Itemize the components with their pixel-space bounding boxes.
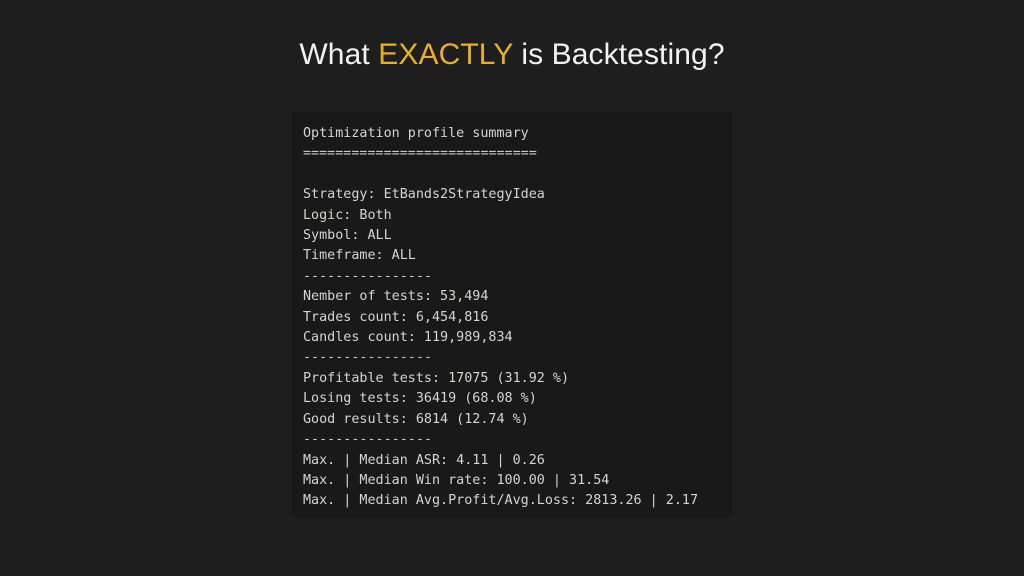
terminal-line: Timeframe: ALL <box>303 246 718 266</box>
terminal-line: Losing tests: 36419 (68.08 %) <box>303 389 718 409</box>
terminal-line: Max. | Median Avg.Profit/Avg.Loss: 2813.… <box>303 491 718 511</box>
page-title: What EXACTLY is Backtesting? <box>0 38 1024 72</box>
terminal-line: Good results: 6814 (12.74 %) <box>303 410 718 430</box>
terminal-line: Nember of tests: 53,494 <box>303 287 718 307</box>
terminal-line: Max. | Median ASR: 4.11 | 0.26 <box>303 451 718 471</box>
terminal-line: Optimization profile summary <box>303 124 718 144</box>
terminal-output-text: Optimization profile summary============… <box>303 124 718 512</box>
terminal-line: ---------------- <box>303 348 718 368</box>
terminal-line: Strategy: EtBands2StrategyIdea <box>303 185 718 205</box>
page-title-suffix: is Backtesting? <box>513 38 725 71</box>
terminal-line: Profitable tests: 17075 (31.92 %) <box>303 369 718 389</box>
page-title-accent: EXACTLY <box>378 38 513 71</box>
slide-root: What EXACTLY is Backtesting? Optimizatio… <box>0 0 1024 576</box>
terminal-output-panel: Optimization profile summary============… <box>292 112 732 518</box>
terminal-line: Max. | Median Win rate: 100.00 | 31.54 <box>303 471 718 491</box>
terminal-line: ---------------- <box>303 430 718 450</box>
page-title-prefix: What <box>299 38 378 71</box>
terminal-line: ---------------- <box>303 267 718 287</box>
terminal-line <box>303 165 718 185</box>
terminal-line: Trades count: 6,454,816 <box>303 308 718 328</box>
terminal-line: Candles count: 119,989,834 <box>303 328 718 348</box>
terminal-line: Symbol: ALL <box>303 226 718 246</box>
terminal-line: Logic: Both <box>303 206 718 226</box>
terminal-line: ============================= <box>303 144 718 164</box>
